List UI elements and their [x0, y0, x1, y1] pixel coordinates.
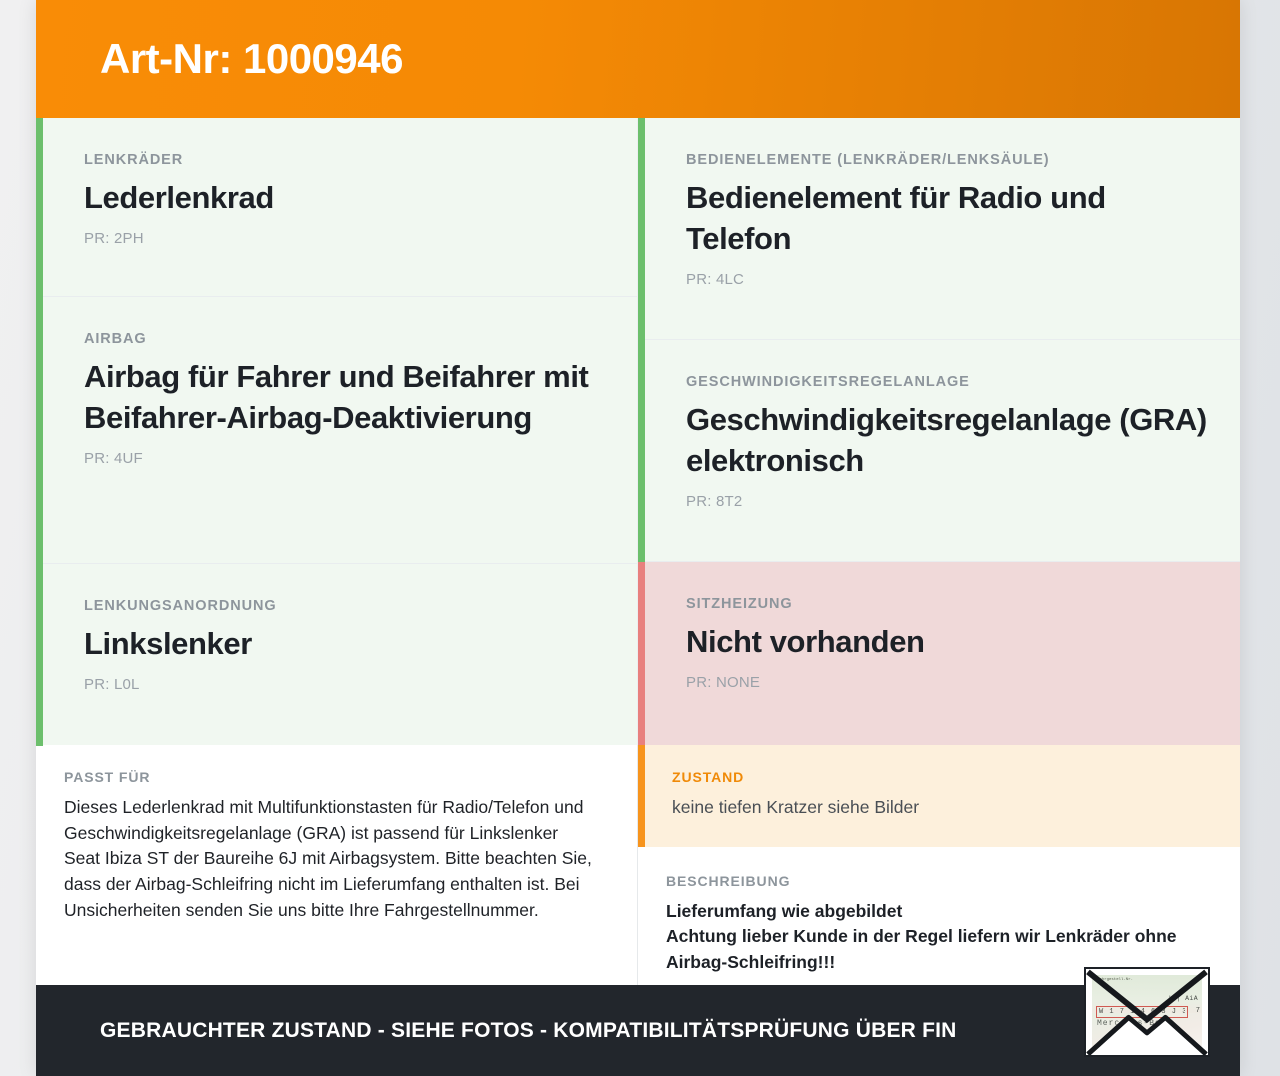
footer-bar: GEBRAUCHTER ZUSTAND - SIEHE FOTOS - KOMP… — [36, 985, 1240, 1076]
product-card: Art-Nr: 1000946 LENKRÄDER Lederlenkrad P… — [36, 0, 1240, 1076]
equipment-title: Geschwindigkeitsregelanlage (GRA) elektr… — [686, 399, 1212, 481]
fit-column: PASST FÜR Dieses Lederlenkrad mit Multif… — [36, 745, 638, 985]
equipment-pr-code: PR: 8T2 — [686, 493, 1212, 510]
section-body: Dieses Lederlenkrad mit Multifunktionsta… — [64, 795, 597, 924]
equipment-label: GESCHWINDIGKEITSREGELANLAGE — [686, 374, 1212, 390]
equipment-title: Linkslenker — [84, 623, 609, 664]
equipment-column-left: LENKRÄDER Lederlenkrad PR: 2PH AIRBAG Ai… — [36, 118, 638, 745]
equipment-grid: LENKRÄDER Lederlenkrad PR: 2PH AIRBAG Ai… — [36, 118, 1240, 745]
equipment-title: Lederlenkrad — [84, 177, 609, 218]
equipment-label: BEDIENELEMENTE (LENKRÄDER/LENKSÄULE) — [686, 152, 1212, 168]
equipment-title: Bedienelement für Radio und Telefon — [686, 177, 1212, 259]
equipment-column-right: BEDIENELEMENTE (LENKRÄDER/LENKSÄULE) Bed… — [638, 118, 1240, 745]
section-zustand: ZUSTAND keine tiefen Kratzer siehe Bilde… — [638, 745, 1240, 847]
equipment-cell-airbag[interactable]: AIRBAG Airbag für Fahrer und Beifahrer m… — [36, 297, 637, 564]
equipment-label: LENKUNGSANORDNUNG — [84, 598, 609, 614]
equipment-label: LENKRÄDER — [84, 152, 609, 168]
equipment-pr-code: PR: L0L — [84, 676, 609, 693]
equipment-label: SITZHEIZUNG — [686, 596, 1212, 612]
equipment-cell-geschwindigkeitsregelanlage[interactable]: GESCHWINDIGKEITSREGELANLAGE Geschwindigk… — [638, 340, 1240, 562]
section-heading: ZUSTAND — [672, 769, 1200, 785]
equipment-title: Nicht vorhanden — [686, 621, 1212, 662]
footer-notice: GEBRAUCHTER ZUSTAND - SIEHE FOTOS - KOMP… — [36, 1019, 957, 1043]
equipment-cell-sitzheizung[interactable]: SITZHEIZUNG Nicht vorhanden PR: NONE — [638, 562, 1240, 745]
equipment-cell-bedienelemente[interactable]: BEDIENELEMENTE (LENKRÄDER/LENKSÄULE) Bed… — [638, 118, 1240, 340]
envelope-icon[interactable]: Fahrgestell-Nr. |4| AiA W 1 7 1 4 6 3 J … — [1084, 967, 1210, 1057]
detail-sections: PASST FÜR Dieses Lederlenkrad mit Multif… — [36, 745, 1240, 985]
section-body: keine tiefen Kratzer siehe Bilder — [672, 795, 1200, 821]
equipment-pr-code: PR: 4LC — [686, 271, 1212, 288]
equipment-pr-code: PR: NONE — [686, 674, 1212, 691]
product-detail-page: Art-Nr: 1000946 LENKRÄDER Lederlenkrad P… — [0, 0, 1280, 1076]
section-body: Lieferumfang wie abgebildet Achtung lieb… — [666, 899, 1200, 976]
equipment-label: AIRBAG — [84, 331, 609, 347]
equipment-pr-code: PR: 2PH — [84, 230, 609, 247]
article-number-title: Art-Nr: 1000946 — [36, 38, 403, 80]
condition-column: ZUSTAND keine tiefen Kratzer siehe Bilde… — [638, 745, 1240, 985]
equipment-pr-code: PR: 4UF — [84, 450, 609, 467]
equipment-cell-lenkungsanordnung[interactable]: LENKUNGSANORDNUNG Linkslenker PR: L0L — [36, 564, 637, 745]
equipment-cell-lenkraeder[interactable]: LENKRÄDER Lederlenkrad PR: 2PH — [36, 118, 637, 297]
section-heading: PASST FÜR — [64, 769, 597, 785]
section-passt-fuer: PASST FÜR Dieses Lederlenkrad mit Multif… — [36, 745, 637, 944]
envelope-flap-icon — [1086, 969, 1208, 1056]
header-bar: Art-Nr: 1000946 — [36, 0, 1240, 118]
equipment-title: Airbag für Fahrer und Beifahrer mit Beif… — [84, 356, 609, 438]
section-heading: BESCHREIBUNG — [666, 873, 1200, 889]
